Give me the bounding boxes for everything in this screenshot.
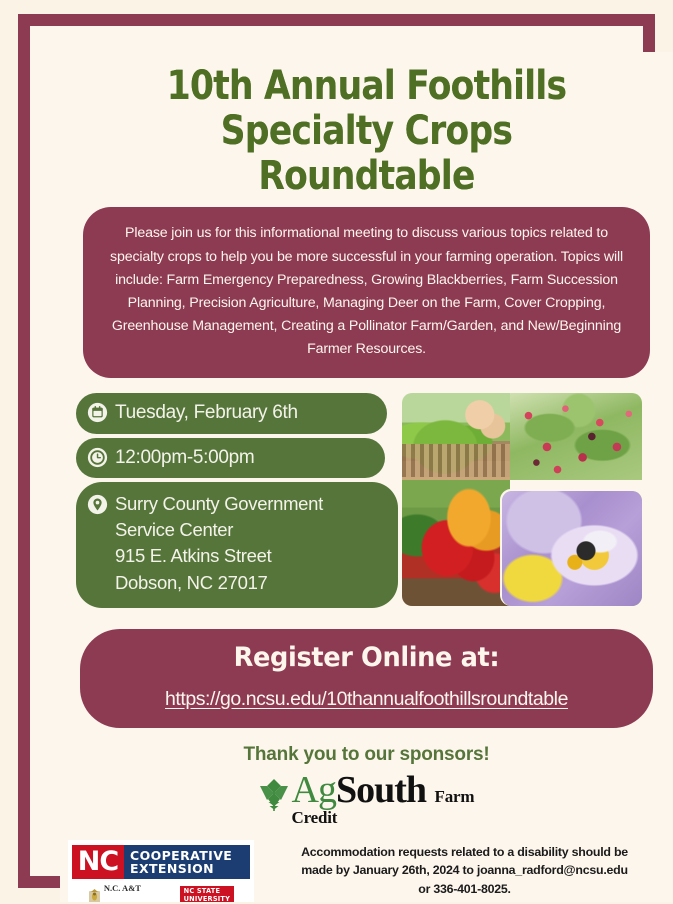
event-details-list: Tuesday, February 6th 12:00pm-5:00pm (76, 393, 394, 612)
event-date-text: Tuesday, February 6th (115, 400, 298, 425)
extension-wordmark-line2: EXTENSION (130, 862, 250, 875)
lettuce-harvest-photo (402, 393, 510, 480)
description-text: Please join us for this informational me… (83, 207, 650, 378)
extension-wordmark-line1: COOPERATIVE (130, 849, 250, 862)
agsouth-logo: AgSouth Farm Credit (258, 773, 476, 828)
event-date-pill: Tuesday, February 6th (76, 393, 387, 433)
extension-logo-banner: NC COOPERATIVE EXTENSION (72, 845, 250, 879)
ncat-name: N.C. A&T (104, 883, 141, 893)
page-title: 10th Annual Foothills Specialty Crops Ro… (103, 52, 630, 198)
ncat-crest-icon (88, 888, 101, 902)
agsouth-name-ag: Ag (292, 769, 336, 811)
calendar-icon (87, 402, 108, 423)
accommodation-line-2: made by January 26th, 2024 to joanna_rad… (260, 861, 669, 879)
details-and-photos-row: Tuesday, February 6th 12:00pm-5:00pm (60, 378, 673, 612)
event-location-text: Surry County Government Service Center 9… (115, 491, 323, 596)
register-heading: Register Online at: (110, 642, 624, 673)
clock-icon (87, 447, 108, 468)
ncstate-line2: UNIVERSITY (184, 895, 231, 902)
register-section: Register Online at: https://go.ncsu.edu/… (60, 612, 673, 728)
register-box: Register Online at: https://go.ncsu.edu/… (80, 629, 653, 728)
berries-bush-photo (510, 393, 642, 480)
maroon-border-frame: 10th Annual Foothills Specialty Crops Ro… (18, 14, 655, 888)
bell-peppers-photo (402, 480, 510, 606)
clover-leaf-icon (258, 777, 290, 815)
accommodation-line-3: or 336-401-8025. (260, 880, 669, 898)
accommodation-notice: Accommodation requests related to a disa… (254, 840, 669, 902)
extension-partner-logos: N.C. A&T STATE UNIVERSITY NC STATE UNIVE… (72, 879, 250, 902)
event-time-pill: 12:00pm-5:00pm (76, 438, 385, 478)
extension-nc-mark: NC (72, 845, 124, 879)
register-link[interactable]: https://go.ncsu.edu/10thannualfoothillsr… (96, 688, 637, 711)
agsouth-name-south: South (336, 769, 426, 811)
event-time-text: 12:00pm-5:00pm (115, 445, 254, 470)
accommodation-line-1: Accommodation requests related to a disa… (260, 843, 669, 861)
flyer-inner-panel: 10th Annual Foothills Specialty Crops Ro… (60, 52, 673, 902)
extension-wordmark: COOPERATIVE EXTENSION (124, 845, 250, 879)
description-section: Please join us for this informational me… (60, 198, 673, 378)
ncstate-logo: NC STATE UNIVERSITY (180, 886, 235, 902)
photo-collage (402, 393, 642, 606)
location-pin-icon (87, 494, 108, 515)
ncat-logo: N.C. A&T STATE UNIVERSITY (88, 878, 148, 902)
sponsors-thank-you: Thank you to our sponsors! (60, 728, 673, 766)
bee-on-flower-photo (502, 491, 642, 606)
nc-cooperative-extension-logo: NC COOPERATIVE EXTENSION (68, 840, 254, 902)
ncat-text-block: N.C. A&T STATE UNIVERSITY (104, 878, 148, 902)
agsouth-wordmark: AgSouth Farm Credit (292, 773, 476, 828)
accommodation-line-4: NC Cooperative Extension is an equal opp… (260, 898, 669, 902)
flyer-page: 10th Annual Foothills Specialty Crops Ro… (0, 0, 673, 904)
event-location-pill: Surry County Government Service Center 9… (76, 482, 398, 608)
footer-row: NC COOPERATIVE EXTENSION (60, 828, 673, 902)
